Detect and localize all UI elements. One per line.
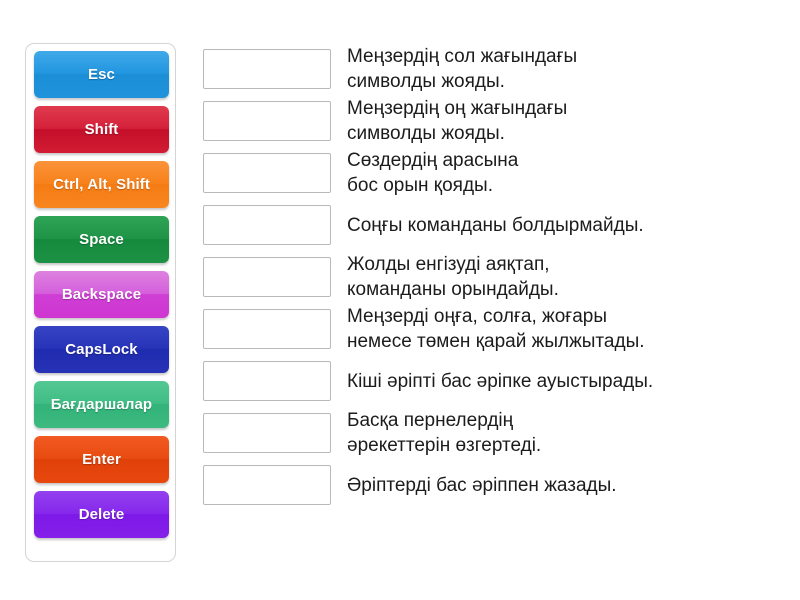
key-tile-label: Space [76, 232, 127, 248]
match-row: Сөздердің арасына бос орын қояды. [203, 147, 793, 199]
match-description: Соңғы команданы болдырмайды. [347, 213, 793, 238]
key-tile-label: Бағдаршалар [48, 397, 155, 413]
match-description: Меңзердің сол жағындағы символды жояды. [347, 44, 793, 94]
match-row: Жолды енгізуді аяқтап, команданы орындай… [203, 251, 793, 303]
key-tile-label: CapsLock [62, 342, 141, 358]
key-tile[interactable]: Space [34, 216, 169, 263]
answer-dropzone[interactable] [203, 465, 331, 505]
key-tile[interactable]: Enter [34, 436, 169, 483]
match-description: Әріптерді бас әріппен жазады. [347, 473, 793, 498]
key-tile[interactable]: Shift [34, 106, 169, 153]
key-tile[interactable]: Ctrl, Alt, Shift [34, 161, 169, 208]
match-description: Жолды енгізуді аяқтап, команданы орындай… [347, 252, 793, 302]
answer-dropzone[interactable] [203, 309, 331, 349]
match-row: Соңғы команданы болдырмайды. [203, 199, 793, 251]
match-description: Кіші әріпті бас әріпке ауыстырады. [347, 369, 793, 394]
activity-canvas: EscShiftCtrl, Alt, ShiftSpaceBackspaceCa… [0, 0, 800, 600]
key-tile-label: Enter [79, 452, 124, 468]
key-tile-label: Esc [85, 67, 118, 83]
match-description: Басқа пернелердің әрекеттерін өзгертеді. [347, 408, 793, 458]
answer-dropzone[interactable] [203, 205, 331, 245]
key-tile-label: Delete [76, 507, 128, 523]
answer-dropzone[interactable] [203, 361, 331, 401]
match-description: Меңзердің оң жағындағы символды жояды. [347, 96, 793, 146]
key-tile[interactable]: Delete [34, 491, 169, 538]
answer-dropzone[interactable] [203, 49, 331, 89]
answer-dropzone[interactable] [203, 153, 331, 193]
key-tile[interactable]: Backspace [34, 271, 169, 318]
match-row: Кіші әріпті бас әріпке ауыстырады. [203, 355, 793, 407]
key-tile[interactable]: Esc [34, 51, 169, 98]
match-row: Басқа пернелердің әрекеттерін өзгертеді. [203, 407, 793, 459]
match-description: Сөздердің арасына бос орын қояды. [347, 148, 793, 198]
key-tile-label: Backspace [59, 287, 144, 303]
match-row: Меңзердің сол жағындағы символды жояды. [203, 43, 793, 95]
match-row: Меңзерді оңға, солға, жоғары немесе төме… [203, 303, 793, 355]
key-tile-label: Ctrl, Alt, Shift [50, 177, 153, 193]
match-row: Меңзердің оң жағындағы символды жояды. [203, 95, 793, 147]
answer-dropzone[interactable] [203, 413, 331, 453]
match-description: Меңзерді оңға, солға, жоғары немесе төме… [347, 304, 793, 354]
answer-dropzone[interactable] [203, 101, 331, 141]
key-tile[interactable]: CapsLock [34, 326, 169, 373]
draggable-keys-panel: EscShiftCtrl, Alt, ShiftSpaceBackspaceCa… [25, 43, 176, 562]
key-tile-label: Shift [82, 122, 122, 138]
key-tile[interactable]: Бағдаршалар [34, 381, 169, 428]
match-rows: Меңзердің сол жағындағы символды жояды.М… [203, 43, 793, 511]
answer-dropzone[interactable] [203, 257, 331, 297]
match-row: Әріптерді бас әріппен жазады. [203, 459, 793, 511]
